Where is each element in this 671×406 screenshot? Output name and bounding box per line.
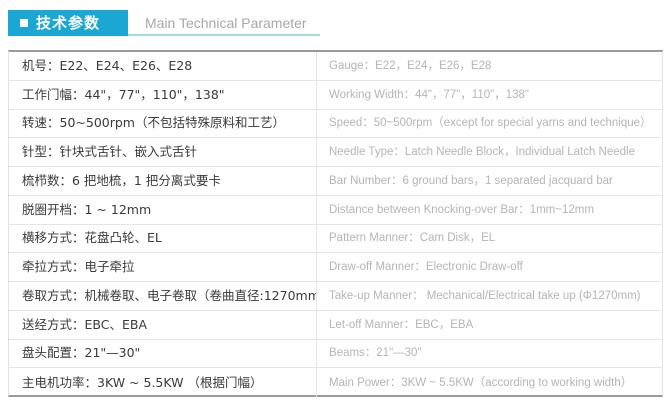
table-row: 转速：50~500rpm（不包括特殊原料和工艺） Speed：50~500rpm…	[9, 110, 662, 139]
spec-label-cn: 机号：E22、E24、E26、E28	[9, 52, 317, 80]
spec-label-cn: 针型：针块式舌针、嵌入式舌针	[9, 138, 317, 166]
spec-label-en: Gauge：E22，E24，E26，E28	[317, 52, 662, 80]
section-title-en: Main Technical Parameter	[145, 14, 307, 32]
spec-label-en: Working Width：44"，77"，110"，138"	[317, 81, 662, 109]
square-bullet-icon	[20, 19, 28, 27]
spec-label-en: Main Power：3KW ~ 5.5KW（according to work…	[317, 368, 662, 397]
spec-label-cn: 转速：50~500rpm（不包括特殊原料和工艺）	[9, 110, 317, 138]
spec-label-en: Take-up Manner： Mechanical/Electrical ta…	[317, 282, 662, 310]
table-row: 梳栉数：6 把地梳，1 把分离式要卡 Bar Number：6 ground b…	[9, 167, 662, 196]
table-row: 主电机功率：3KW ~ 5.5KW （根据门幅） Main Power：3KW …	[9, 368, 662, 397]
spec-label-cn: 盘头配置：21"—30"	[9, 340, 317, 368]
spec-table: 机号：E22、E24、E26、E28 Gauge：E22，E24，E26，E28…	[8, 50, 663, 397]
spec-label-en: Distance between Knocking-over Bar：1mm~1…	[317, 196, 662, 224]
table-row: 机号：E22、E24、E26、E28 Gauge：E22，E24，E26，E28	[9, 52, 662, 81]
spec-label-cn: 工作门幅：44"，77"，110"，138"	[9, 81, 317, 109]
table-row: 牵拉方式：电子牵拉 Draw-off Manner：Electronic Dra…	[9, 253, 662, 282]
spec-label-cn: 主电机功率：3KW ~ 5.5KW （根据门幅）	[9, 368, 317, 397]
table-row: 横移方式：花盘凸轮、EL Pattern Manner：Cam Disk，EL	[9, 225, 662, 254]
table-row: 工作门幅：44"，77"，110"，138" Working Width：44"…	[9, 81, 662, 110]
spec-label-cn: 脱圈开档：1 ~ 12mm	[9, 196, 317, 224]
table-row: 卷取方式：机械卷取、电子卷取（卷曲直径:1270mm) Take-up Mann…	[9, 282, 662, 311]
spec-label-cn: 送经方式：EBC、EBA	[9, 311, 317, 339]
section-header: 技术参数 Main Technical Parameter	[0, 0, 671, 47]
spec-label-en: Beams：21"—30"	[317, 340, 662, 368]
header-underline	[128, 34, 320, 36]
table-row: 针型：针块式舌针、嵌入式舌针 Needle Type：Latch Needle …	[9, 138, 662, 167]
section-title-cn: 技术参数	[36, 16, 100, 31]
spec-label-en: Speed：50~500rpm（except for special yarns…	[317, 110, 662, 138]
table-row: 送经方式：EBC、EBA Let-off Manner：EBC，EBA	[9, 311, 662, 340]
spec-label-en: Let-off Manner：EBC，EBA	[317, 311, 662, 339]
table-row: 盘头配置：21"—30" Beams：21"—30"	[9, 340, 662, 369]
spec-label-en: Pattern Manner：Cam Disk，EL	[317, 225, 662, 253]
spec-label-cn: 横移方式：花盘凸轮、EL	[9, 225, 317, 253]
spec-label-en: Draw-off Manner：Electronic Draw-off	[317, 253, 662, 281]
spec-label-en: Needle Type：Latch Needle Block，Individua…	[317, 138, 662, 166]
section-title-badge: 技术参数	[8, 10, 128, 36]
spec-label-cn: 梳栉数：6 把地梳，1 把分离式要卡	[9, 167, 317, 195]
spec-label-cn: 牵拉方式：电子牵拉	[9, 253, 317, 281]
table-row: 脱圈开档：1 ~ 12mm Distance between Knocking-…	[9, 196, 662, 225]
spec-label-cn: 卷取方式：机械卷取、电子卷取（卷曲直径:1270mm)	[9, 282, 317, 310]
spec-label-en: Bar Number：6 ground bars，1 separated jac…	[317, 167, 662, 195]
